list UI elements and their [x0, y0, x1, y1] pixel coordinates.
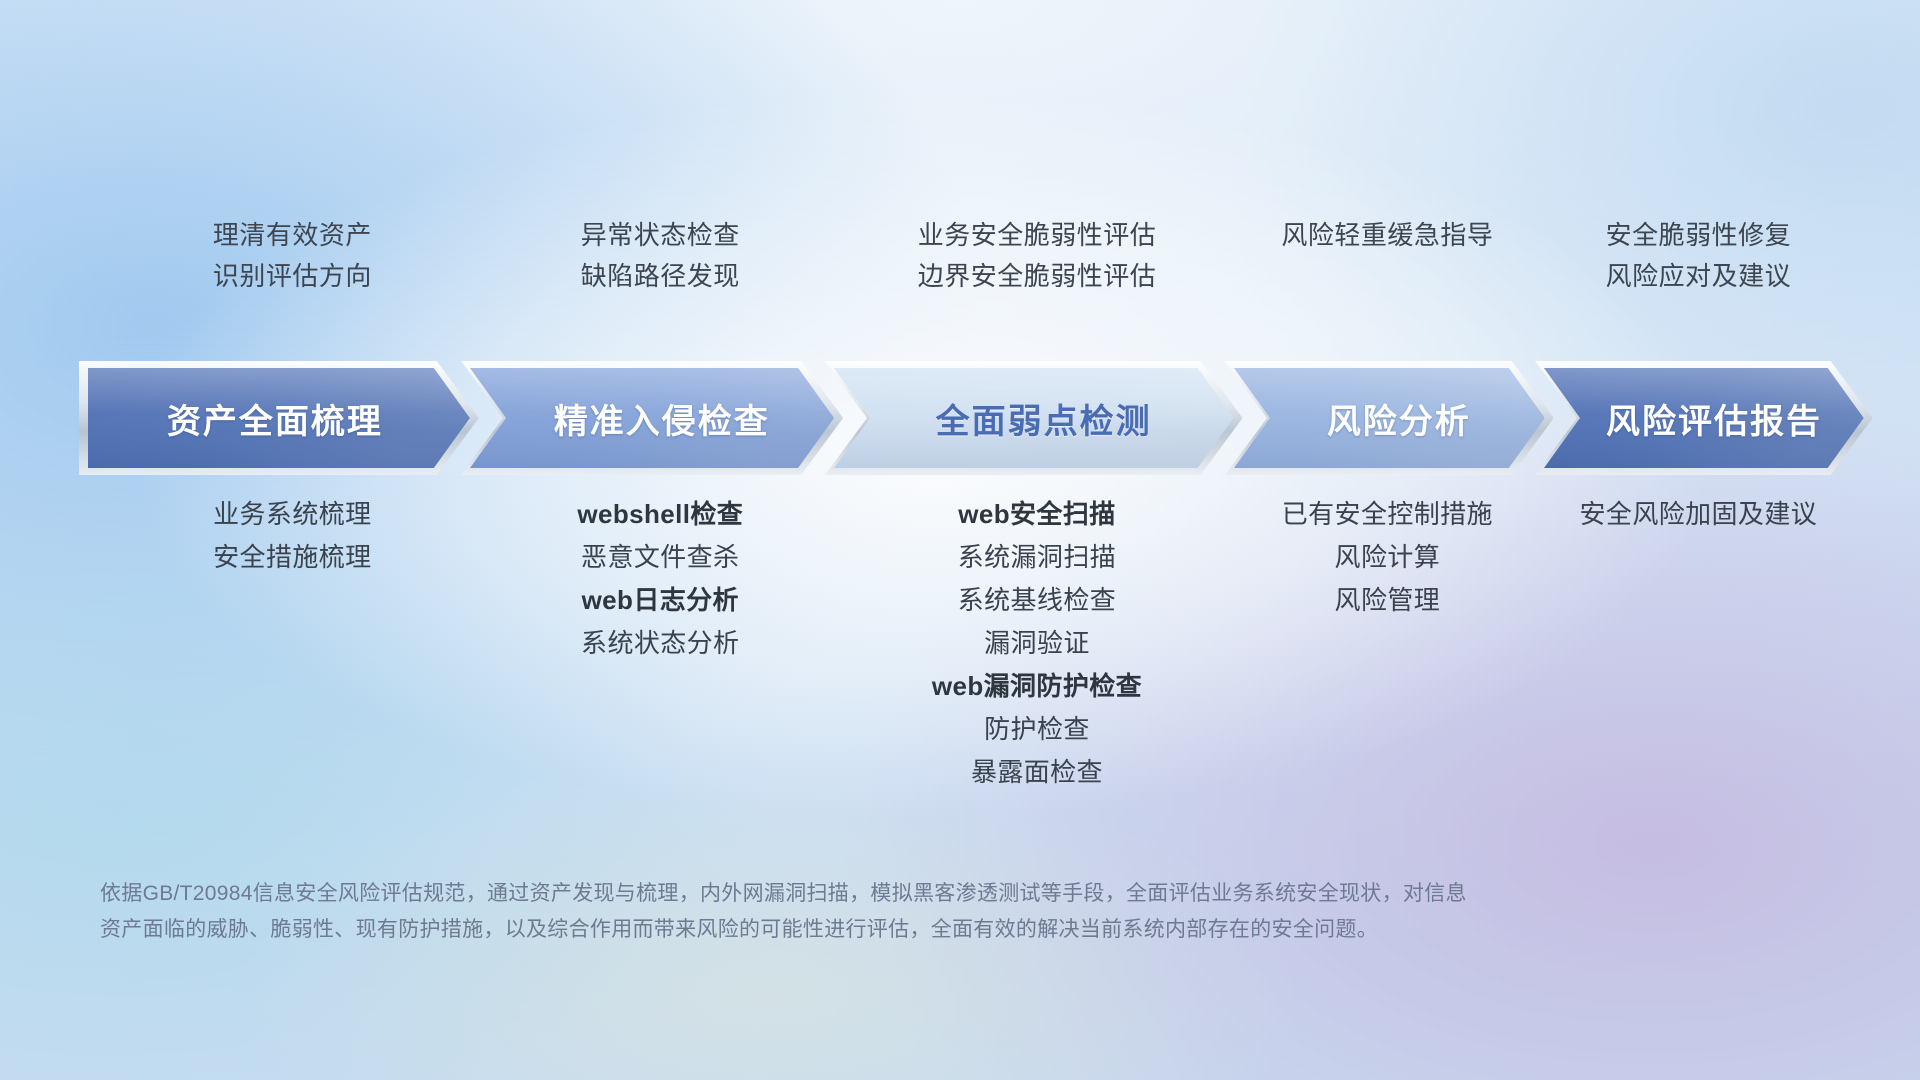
footer-line-2: 资产面临的威胁、脆弱性、现有防护措施，以及综合作用而带来风险的可能性进行评估，全…: [100, 912, 1660, 948]
chevron-label-asset-inventory: 资产全面梳理: [167, 394, 383, 443]
top-caption-column-risk-analysis: 风险轻重缓急指导: [1234, 222, 1541, 332]
process-chevron-band: 资产全面梳理精准入侵检查全面弱点检测风险分析风险评估报告: [88, 368, 1864, 468]
footer-description: 依据GB/T20984信息安全风险评估规范，通过资产发现与梳理，内外网漏洞扫描，…: [100, 876, 1660, 948]
top-caption-line: 边界安全脆弱性评估: [918, 263, 1157, 290]
top-caption-line: 缺陷路径发现: [581, 263, 740, 290]
bottom-item: 系统基线检查: [958, 586, 1116, 614]
bottom-item: 恶意文件查杀: [581, 543, 739, 571]
bottom-item: 风险计算: [1335, 543, 1441, 571]
chevron-label-risk-report: 风险评估报告: [1606, 394, 1822, 443]
chevron-stage-weakness-detection[interactable]: 全面弱点检测: [834, 368, 1234, 468]
chevron-label-risk-analysis: 风险分析: [1327, 394, 1471, 443]
chevron-label-intrusion-check: 精准入侵检查: [554, 394, 770, 443]
top-caption-line: 业务安全脆弱性评估: [918, 222, 1157, 249]
top-caption-line: 理清有效资产: [213, 222, 372, 249]
bottom-item: 安全风险加固及建议: [1580, 500, 1818, 528]
top-caption-column-asset-inventory: 理清有效资产识别评估方向: [104, 222, 481, 332]
chevron-label-weakness-detection: 全面弱点检测: [936, 394, 1152, 443]
top-captions-row: 理清有效资产识别评估方向异常状态检查缺陷路径发现业务安全脆弱性评估边界安全脆弱性…: [96, 222, 1856, 332]
top-caption-line: 风险应对及建议: [1606, 263, 1792, 290]
chevron-stage-risk-analysis[interactable]: 风险分析: [1234, 368, 1545, 468]
bottom-item: web安全扫描: [958, 500, 1115, 528]
bottom-items-column-weakness-detection: web安全扫描系统漏洞扫描系统基线检查漏洞验证web漏洞防护检查防护检查暴露面检…: [840, 500, 1234, 787]
bottom-item: web日志分析: [582, 586, 739, 614]
bottom-item: 漏洞验证: [984, 629, 1090, 657]
bottom-item: 风险管理: [1335, 586, 1441, 614]
bottom-items-row: 业务系统梳理安全措施梳理webshell检查恶意文件查杀web日志分析系统状态分…: [96, 500, 1856, 787]
top-caption-column-intrusion-check: 异常状态检查缺陷路径发现: [481, 222, 840, 332]
bottom-item: 系统漏洞扫描: [958, 543, 1116, 571]
footer-line-1: 依据GB/T20984信息安全风险评估规范，通过资产发现与梳理，内外网漏洞扫描，…: [100, 876, 1660, 912]
top-caption-column-weakness-detection: 业务安全脆弱性评估边界安全脆弱性评估: [840, 222, 1234, 332]
chevron-stage-asset-inventory[interactable]: 资产全面梳理: [88, 368, 470, 468]
bottom-item: 系统状态分析: [581, 629, 739, 657]
top-caption-line: 安全脆弱性修复: [1606, 222, 1792, 249]
bottom-items-column-intrusion-check: webshell检查恶意文件查杀web日志分析系统状态分析: [481, 500, 840, 787]
bottom-item: 暴露面检查: [971, 758, 1103, 786]
chevron-stage-risk-report[interactable]: 风险评估报告: [1544, 368, 1864, 468]
chevron-stage-intrusion-check[interactable]: 精准入侵检查: [470, 368, 834, 468]
bottom-items-column-asset-inventory: 业务系统梳理安全措施梳理: [104, 500, 481, 787]
top-caption-line: 识别评估方向: [213, 263, 372, 290]
bottom-item: webshell检查: [577, 500, 743, 528]
top-caption-line: 风险轻重缓急指导: [1281, 222, 1493, 249]
top-caption-column-risk-report: 安全脆弱性修复风险应对及建议: [1541, 222, 1856, 332]
bottom-item: 已有安全控制措施: [1282, 500, 1493, 528]
bottom-item: 业务系统梳理: [213, 500, 371, 528]
bottom-items-column-risk-analysis: 已有安全控制措施风险计算风险管理: [1234, 500, 1541, 787]
bottom-item: web漏洞防护检查: [932, 672, 1142, 700]
bottom-item: 防护检查: [984, 715, 1090, 743]
bottom-items-column-risk-report: 安全风险加固及建议: [1541, 500, 1856, 787]
top-caption-line: 异常状态检查: [581, 222, 740, 249]
bottom-item: 安全措施梳理: [213, 543, 371, 571]
